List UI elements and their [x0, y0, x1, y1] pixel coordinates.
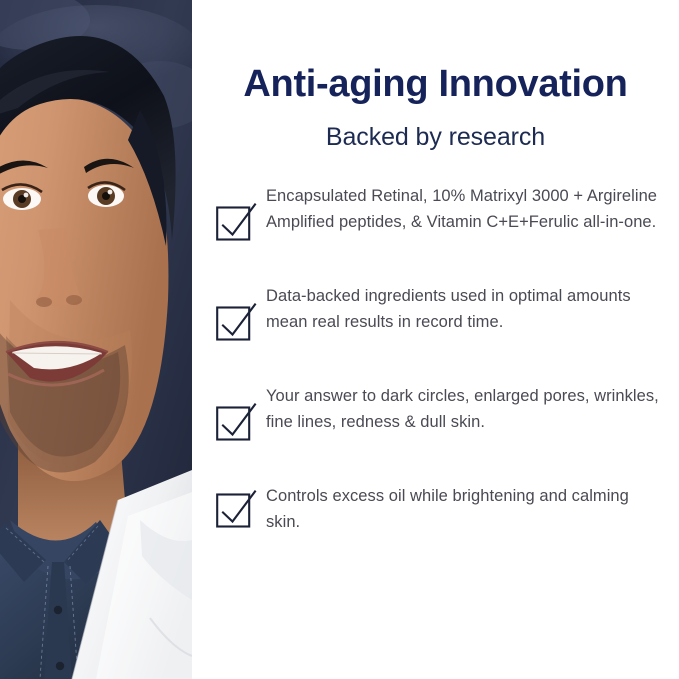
feature-text: Your answer to dark circles, enlarged po…: [266, 383, 666, 435]
feature-item: Encapsulated Retinal, 10% Matrixyl 3000 …: [214, 183, 666, 259]
checkbox-checked-icon-glyph: [214, 199, 259, 244]
feature-list: Encapsulated Retinal, 10% Matrixyl 3000 …: [214, 183, 666, 535]
feature-text: Data-backed ingredients used in optimal …: [266, 283, 666, 335]
checkbox-checked-icon-glyph: [214, 299, 259, 344]
model-photo: [0, 0, 192, 679]
model-photo-illustration: [0, 0, 192, 679]
page-title: Anti-aging Innovation: [192, 62, 679, 106]
checkbox-checked-icon-glyph: [214, 399, 259, 444]
feature-item: Controls excess oil while brightening an…: [214, 483, 666, 535]
feature-text: Encapsulated Retinal, 10% Matrixyl 3000 …: [266, 183, 666, 235]
product-feature-card: Anti-aging Innovation Backed by research…: [0, 0, 679, 679]
checkbox-checked-icon-glyph: [214, 486, 259, 531]
checkbox-checked-icon: [214, 183, 266, 259]
content-panel: Anti-aging Innovation Backed by research…: [192, 0, 679, 679]
feature-item: Your answer to dark circles, enlarged po…: [214, 383, 666, 459]
page-subtitle: Backed by research: [192, 122, 679, 152]
checkbox-checked-icon: [214, 283, 266, 359]
feature-item: Data-backed ingredients used in optimal …: [214, 283, 666, 359]
checkbox-checked-icon: [214, 483, 266, 534]
checkbox-checked-icon: [214, 383, 266, 459]
feature-text: Controls excess oil while brightening an…: [266, 483, 666, 535]
